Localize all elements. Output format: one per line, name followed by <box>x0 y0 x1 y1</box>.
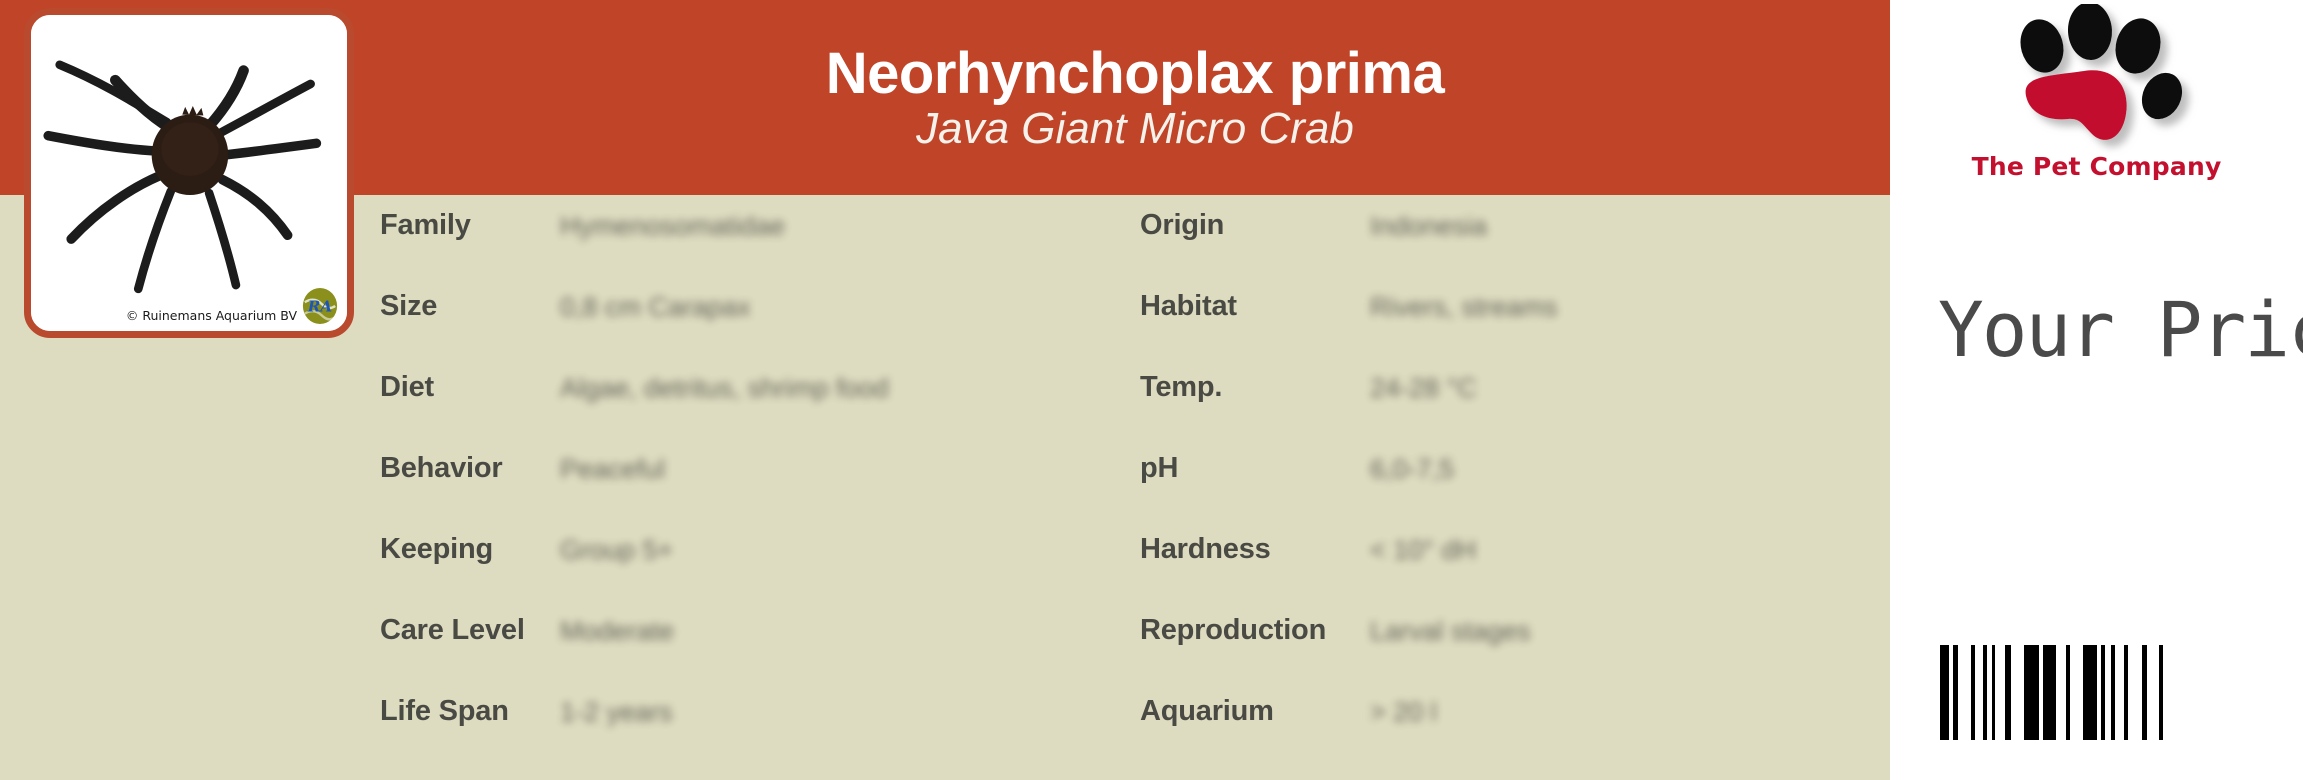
label-care-level: Care Level <box>380 614 525 647</box>
title-block: Neorhynchoplax prima Java Giant Micro Cr… <box>380 0 1890 195</box>
info-row-life-span: Life Span 1-2 years <box>380 681 1140 762</box>
label-reproduction: Reproduction <box>1140 614 1326 647</box>
barcode-icon <box>1940 645 2167 740</box>
brand-logo: The Pet Company <box>1890 4 2303 194</box>
value-hardness: < 10° dH <box>1370 535 1476 566</box>
info-row-keeping: Keeping Group 5+ <box>380 519 1140 600</box>
info-row-diet: Diet Algae, detritus, shrimp food <box>380 357 1140 438</box>
info-row-hardness: Hardness < 10° dH <box>1140 519 1880 600</box>
value-family: Hymenosomatidae <box>560 211 785 242</box>
species-common-name: Java Giant Micro Crab <box>916 107 1354 151</box>
value-behavior: Peaceful <box>560 454 665 485</box>
label-life-span: Life Span <box>380 695 509 728</box>
info-row-aquarium: Aquarium > 20 l <box>1140 681 1880 762</box>
value-reproduction: Larval stages <box>1370 616 1531 647</box>
value-habitat: Rivers, streams <box>1370 292 1558 323</box>
label-keeping: Keeping <box>380 533 493 566</box>
value-keeping: Group 5+ <box>560 535 673 566</box>
info-row-origin: Origin Indonesia <box>1140 195 1880 276</box>
value-ph: 6,0-7,5 <box>1370 454 1454 485</box>
species-info-grid: Family Hymenosomatidae Size 0,8 cm Carap… <box>0 195 1890 780</box>
your-price-label: Your Price <box>1938 285 2303 374</box>
label-aquarium: Aquarium <box>1140 695 1274 728</box>
value-aquarium: > 20 l <box>1370 697 1437 728</box>
value-diet: Algae, detritus, shrimp food <box>560 373 889 404</box>
label-origin: Origin <box>1140 209 1224 242</box>
label-temp: Temp. <box>1140 371 1222 404</box>
info-row-ph: pH 6,0-7,5 <box>1140 438 1880 519</box>
label-diet: Diet <box>380 371 434 404</box>
price-panel: The Pet Company Your Price <box>1890 0 2303 780</box>
label-ph: pH <box>1140 452 1178 485</box>
info-row-behavior: Behavior Peaceful <box>380 438 1140 519</box>
info-row-habitat: Habitat Rivers, streams <box>1140 276 1880 357</box>
value-care-level: Moderate <box>560 616 674 647</box>
info-row-care-level: Care Level Moderate <box>380 600 1140 681</box>
label-habitat: Habitat <box>1140 290 1237 323</box>
value-temp: 24-28 °C <box>1370 373 1477 404</box>
info-column-left: Family Hymenosomatidae Size 0,8 cm Carap… <box>380 195 1140 762</box>
label-family: Family <box>380 209 471 242</box>
page-title: Neorhynchoplax prima <box>826 45 1444 103</box>
info-row-reproduction: Reproduction Larval stages <box>1140 600 1880 681</box>
brand-name: The Pet Company <box>1972 152 2222 181</box>
info-column-right: Origin Indonesia Habitat Rivers, streams… <box>1140 195 1880 762</box>
value-origin: Indonesia <box>1370 211 1487 242</box>
label-size: Size <box>380 290 437 323</box>
info-row-size: Size 0,8 cm Carapax <box>380 276 1140 357</box>
paw-print-icon <box>1992 4 2202 156</box>
info-row-temp: Temp. 24-28 °C <box>1140 357 1880 438</box>
value-size: 0,8 cm Carapax <box>560 292 751 323</box>
label-behavior: Behavior <box>380 452 503 485</box>
value-life-span: 1-2 years <box>560 697 673 728</box>
label-hardness: Hardness <box>1140 533 1271 566</box>
info-row-family: Family Hymenosomatidae <box>380 195 1140 276</box>
